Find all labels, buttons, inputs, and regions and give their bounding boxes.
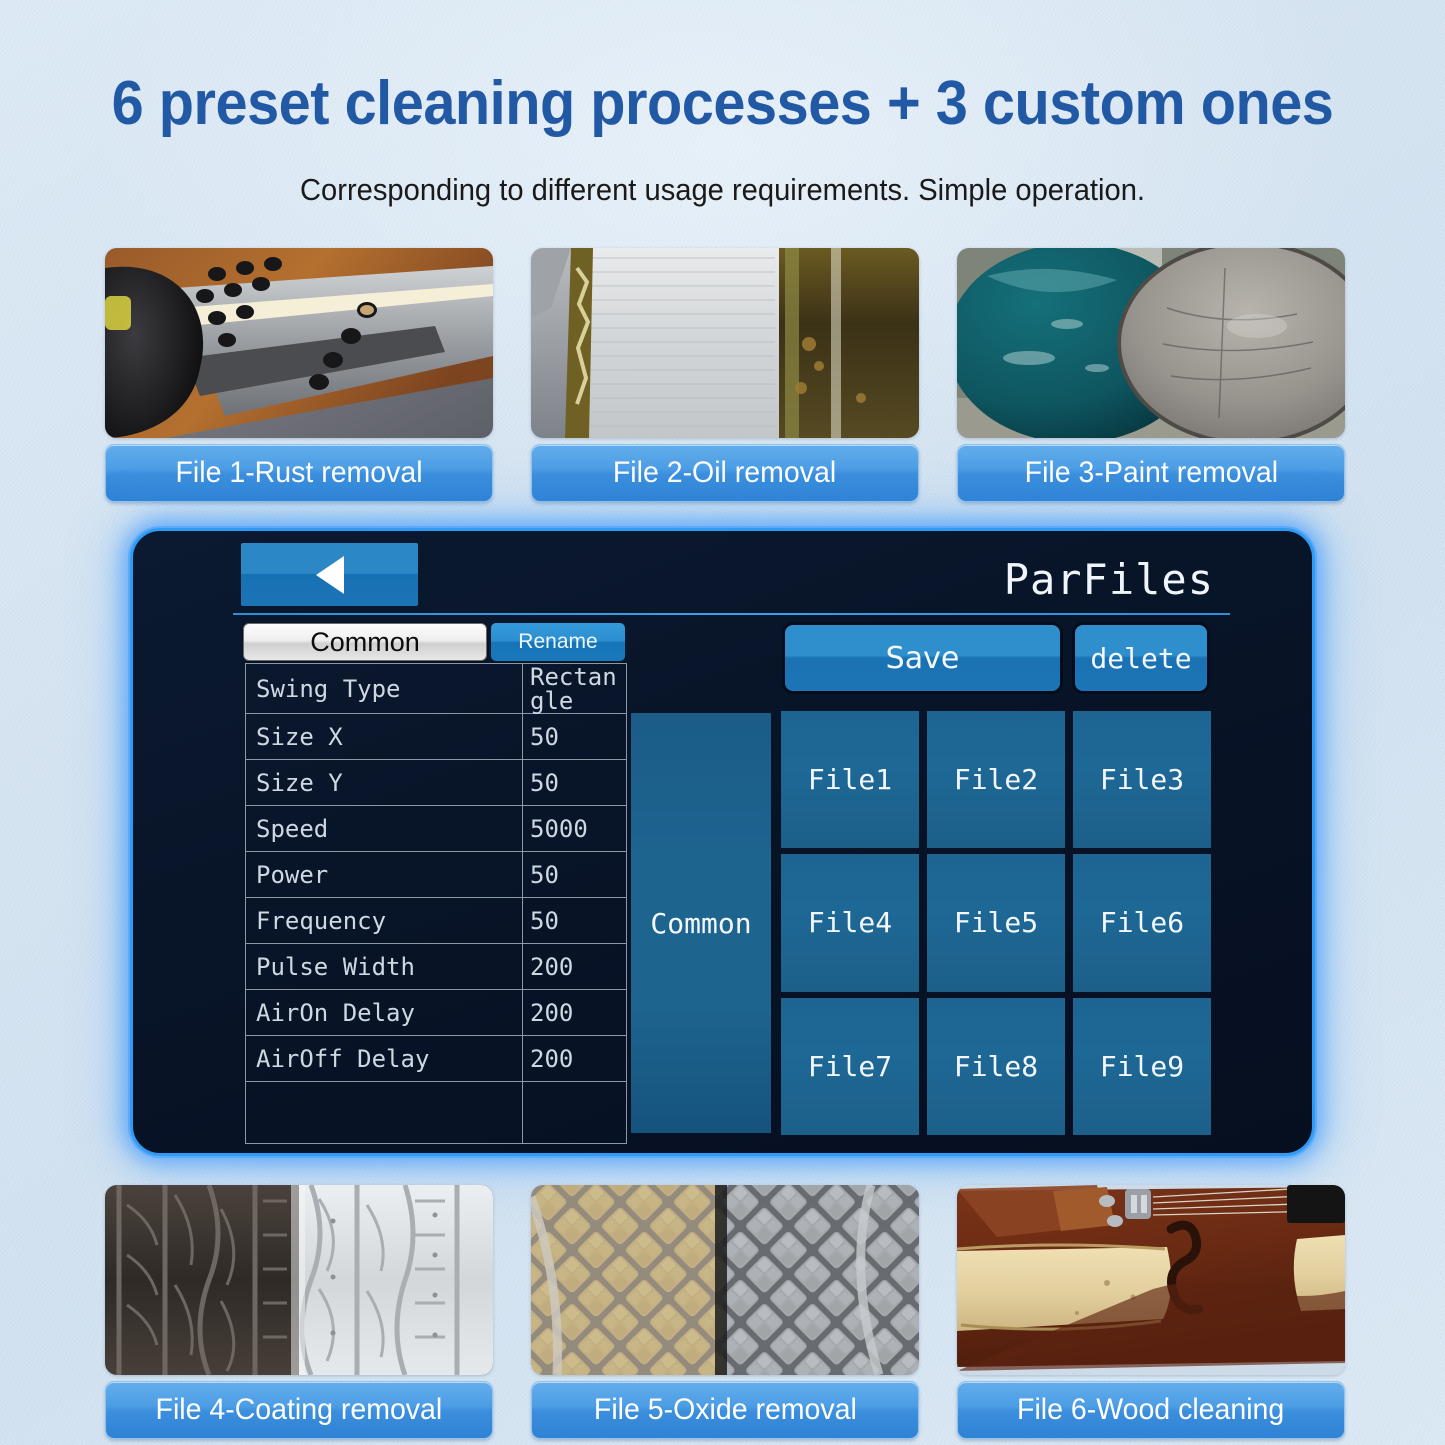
file-tile-7[interactable]: File7 xyxy=(781,998,919,1135)
common-file-tile[interactable]: Common xyxy=(631,713,771,1133)
param-value[interactable] xyxy=(523,1082,626,1143)
table-row[interactable]: Swing Type Rectangle xyxy=(246,664,626,714)
rename-button[interactable]: Rename xyxy=(491,623,625,661)
back-button[interactable] xyxy=(241,543,418,606)
caption-button-2[interactable]: File 2-Oil removal xyxy=(531,444,919,502)
param-value[interactable]: Rectangle xyxy=(523,664,626,713)
param-value[interactable]: 200 xyxy=(523,1036,626,1081)
header-divider xyxy=(233,613,1230,615)
file-tile-2[interactable]: File2 xyxy=(927,711,1065,848)
screen-title: ParFiles xyxy=(1004,555,1214,604)
param-label xyxy=(246,1082,523,1143)
caption-button-6[interactable]: File 6-Wood cleaning xyxy=(957,1381,1345,1439)
back-arrow-icon xyxy=(316,556,344,594)
process-card-1[interactable]: File 1-Rust removal xyxy=(105,248,493,502)
page-title: 6 preset cleaning processes + 3 custom o… xyxy=(51,68,1395,139)
page-subtitle: Corresponding to different usage require… xyxy=(43,172,1401,208)
delete-button[interactable]: delete xyxy=(1075,625,1207,691)
caption-button-5[interactable]: File 5-Oxide removal xyxy=(531,1381,919,1439)
table-row[interactable]: Size X 50 xyxy=(246,714,626,760)
table-row[interactable]: AirOn Delay 200 xyxy=(246,990,626,1036)
process-card-3[interactable]: File 3-Paint removal xyxy=(957,248,1345,502)
parameter-table: Swing Type Rectangle Size X 50 Size Y 50… xyxy=(245,663,627,1144)
param-label: AirOff Delay xyxy=(246,1036,523,1081)
param-value[interactable]: 200 xyxy=(523,944,626,989)
param-label: Size X xyxy=(246,714,523,759)
table-row[interactable]: Size Y 50 xyxy=(246,760,626,806)
caption-button-3[interactable]: File 3-Paint removal xyxy=(957,444,1345,502)
file-tile-grid: File1 File2 File3 File4 File5 File6 File… xyxy=(781,711,1211,1135)
file-tile-5[interactable]: File5 xyxy=(927,854,1065,991)
process-card-4[interactable]: File 4-Coating removal xyxy=(105,1185,493,1439)
param-label: Size Y xyxy=(246,760,523,805)
file-tile-1[interactable]: File1 xyxy=(781,711,919,848)
param-label: Swing Type xyxy=(246,664,523,713)
oxide-removal-photo xyxy=(531,1185,919,1375)
file-name-input[interactable]: Common xyxy=(243,623,487,661)
table-row[interactable]: Pulse Width 200 xyxy=(246,944,626,990)
file-tile-3[interactable]: File3 xyxy=(1073,711,1211,848)
table-row[interactable]: Frequency 50 xyxy=(246,898,626,944)
coating-removal-photo xyxy=(105,1185,493,1375)
param-value[interactable]: 50 xyxy=(523,852,626,897)
param-label: Speed xyxy=(246,806,523,851)
table-row[interactable]: AirOff Delay 200 xyxy=(246,1036,626,1082)
table-row[interactable]: Speed 5000 xyxy=(246,806,626,852)
caption-button-4[interactable]: File 4-Coating removal xyxy=(105,1381,493,1439)
process-card-2[interactable]: File 2-Oil removal xyxy=(531,248,919,502)
paint-removal-photo xyxy=(957,248,1345,438)
param-value[interactable]: 50 xyxy=(523,898,626,943)
save-button[interactable]: Save xyxy=(785,625,1060,691)
page-root: 6 preset cleaning processes + 3 custom o… xyxy=(0,0,1445,1445)
process-card-5[interactable]: File 5-Oxide removal xyxy=(531,1185,919,1439)
param-label: Frequency xyxy=(246,898,523,943)
oil-removal-photo xyxy=(531,248,919,438)
rust-removal-photo xyxy=(105,248,493,438)
file-tile-8[interactable]: File8 xyxy=(927,998,1065,1135)
param-value[interactable]: 50 xyxy=(523,760,626,805)
process-card-6[interactable]: File 6-Wood cleaning xyxy=(957,1185,1345,1439)
file-tile-6[interactable]: File6 xyxy=(1073,854,1211,991)
param-value[interactable]: 200 xyxy=(523,990,626,1035)
table-row[interactable]: Power 50 xyxy=(246,852,626,898)
param-label: AirOn Delay xyxy=(246,990,523,1035)
param-label: Power xyxy=(246,852,523,897)
param-value[interactable]: 5000 xyxy=(523,806,626,851)
caption-button-1[interactable]: File 1-Rust removal xyxy=(105,444,493,502)
wood-cleaning-photo xyxy=(957,1185,1345,1375)
param-label: Pulse Width xyxy=(246,944,523,989)
table-row[interactable] xyxy=(246,1082,626,1144)
hmi-device-panel: ParFiles Common Rename Swing Type Rectan… xyxy=(130,528,1315,1156)
param-value[interactable]: 50 xyxy=(523,714,626,759)
file-tile-9[interactable]: File9 xyxy=(1073,998,1211,1135)
file-tile-4[interactable]: File4 xyxy=(781,854,919,991)
